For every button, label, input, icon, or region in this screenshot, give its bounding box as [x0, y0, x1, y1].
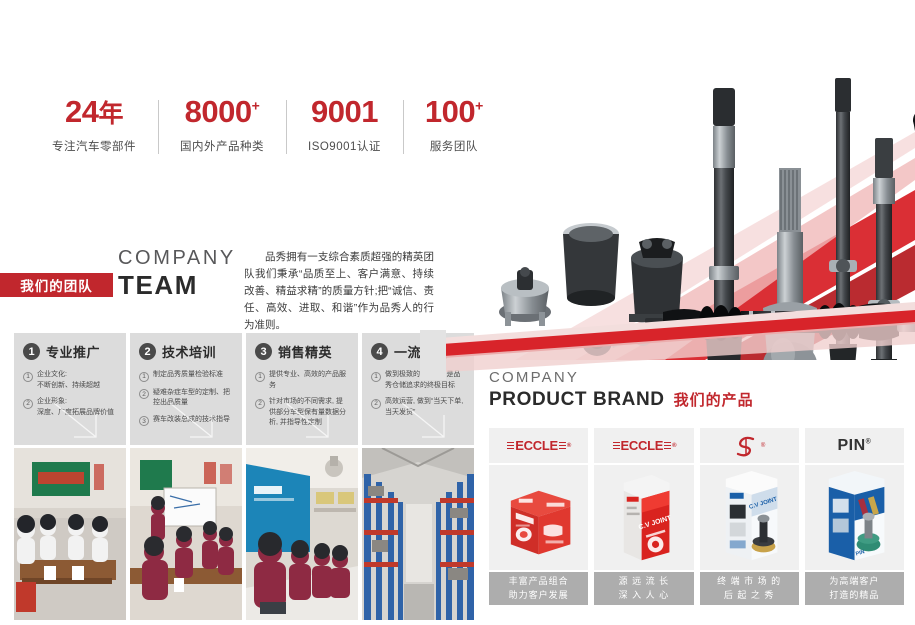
brand-logo-eccle: ECCLE ® — [489, 428, 588, 463]
caption-line-2: 打造的精品 — [829, 589, 879, 602]
brand-caption: 终 端 市 场 的 后 起 之 秀 — [700, 572, 799, 605]
company-stats: 24年 专注汽车零部件 8000+ 国内外产品种类 9001 ISO9001认证… — [52, 96, 505, 154]
bullet-number: 2 — [139, 389, 149, 399]
warehouse-photo — [362, 448, 474, 620]
brand-caption: 源 远 流 长 深 入 人 心 — [594, 572, 693, 605]
team-card: 1 专业推广 1 企业文化:不断创新、持续超越 2 企业形象:深度、广度拓展品牌… — [14, 333, 126, 445]
bullet-number: 1 — [139, 372, 149, 382]
card-header: 2 技术培训 — [139, 342, 233, 361]
product-box-image-blue-white: C.V JOINT — [700, 465, 799, 570]
logo-bars-right — [664, 442, 671, 449]
brand-section-heading: COMPANY PRODUCT BRAND 我们的产品 — [489, 370, 754, 411]
bullet-number: 2 — [255, 399, 265, 409]
team-badge: 我们的团队 — [0, 273, 113, 297]
stat-label: 专注汽车零部件 — [52, 138, 136, 154]
caption-line-1: 终 端 市 场 的 — [717, 575, 781, 588]
product-box-image-red-tall: C.V JOINT — [594, 465, 693, 570]
script-s-logo-icon — [733, 434, 761, 458]
registered-mark: ® — [866, 438, 872, 445]
bullet-number: 2 — [23, 399, 33, 409]
card-number: 3 — [255, 343, 272, 360]
team-card: 2 技术培训 1 制定品秀质量检验标准 2 疑难杂症车型的定制、把控出品质量 3… — [130, 333, 242, 445]
stat-item: 8000+ 国内外产品种类 — [158, 96, 286, 154]
stat-number: 8000+ — [180, 96, 264, 127]
team-heading-company: COMPANY — [118, 248, 236, 269]
team-feature-cards: 1 专业推广 1 企业文化:不断创新、持续超越 2 企业形象:深度、广度拓展品牌… — [14, 333, 474, 445]
stat-label: ISO9001认证 — [308, 138, 381, 154]
stat-number: 9001 — [308, 96, 381, 127]
stat-label: 国内外产品种类 — [180, 138, 264, 154]
card-bullet: 1 提供专业、高效的产品服务 — [255, 370, 349, 391]
card-title: 技术培训 — [162, 342, 216, 361]
card-header: 1 专业推广 — [23, 342, 117, 361]
registered-mark: ® — [672, 443, 676, 449]
product-brand-grid: ECCLE ® — [489, 428, 904, 605]
brand-heading-company: COMPANY — [489, 370, 754, 387]
product-brand-item[interactable]: ® C.V JOINT — [700, 428, 799, 605]
bullet-number: 2 — [371, 399, 381, 409]
registered-mark: ® — [567, 443, 571, 449]
team-description: 品秀拥有一支综合素质超强的精英团队我们秉承“品质至上、客户满意、持续改善、精益求… — [244, 249, 434, 334]
card-bullet: 1 企业文化:不断创新、持续超越 — [23, 370, 117, 391]
brand-logo-text: PIN — [837, 437, 865, 454]
training-room-photo — [130, 448, 242, 620]
brand-logo-text: ECCLE — [515, 438, 558, 453]
bullet-text: 制定品秀质量检验标准 — [153, 370, 223, 382]
caption-line-1: 丰富产品组合 — [509, 575, 569, 588]
logo-bars-left — [507, 442, 514, 449]
bullet-number: 1 — [255, 372, 265, 382]
brand-logo-eccle: ECCLE ® — [594, 428, 693, 463]
stat-item: 100+ 服务团队 — [403, 96, 505, 154]
brand-heading-row: PRODUCT BRAND 我们的产品 — [489, 389, 754, 411]
bullet-text: 提供专业、高效的产品服务 — [269, 370, 349, 391]
team-heading-team: TEAM — [118, 271, 236, 300]
meeting-room-photo — [14, 448, 126, 620]
bullet-number: 3 — [139, 416, 149, 426]
team-photo-strip — [14, 448, 474, 620]
card-number: 1 — [23, 343, 40, 360]
arrow-decoration-icon — [284, 401, 338, 443]
caption-line-2: 后 起 之 秀 — [724, 589, 775, 602]
arrow-decoration-icon — [52, 401, 106, 443]
card-header: 3 销售精英 — [255, 342, 349, 361]
bullet-number: 1 — [23, 372, 33, 382]
product-brand-item[interactable]: ECCLE ® C.V JOINT — [594, 428, 693, 605]
bullet-text: 企业文化:不断创新、持续超越 — [37, 370, 100, 391]
caption-line-1: 源 远 流 长 — [619, 575, 670, 588]
stat-label: 服务团队 — [425, 138, 483, 154]
logo-bars-right — [559, 442, 566, 449]
team-card: 3 销售精英 1 提供专业、高效的产品服务 2 针对市场的不同需求, 提供部分车… — [246, 333, 358, 445]
product-box-image-blue: PIN — [805, 465, 904, 570]
bullet-number: 1 — [371, 372, 381, 382]
card-number: 4 — [371, 343, 388, 360]
brand-logo-text: ECCLE — [621, 438, 664, 453]
brand-caption: 丰富产品组合 助力客户发展 — [489, 572, 588, 605]
stat-item: 24年 专注汽车零部件 — [52, 96, 158, 154]
stat-number: 24年 — [52, 96, 136, 127]
arrow-decoration-icon — [168, 401, 222, 443]
poster-page: 24年 专注汽车零部件 8000+ 国内外产品种类 9001 ISO9001认证… — [0, 0, 915, 625]
product-box-image-red-cube — [489, 465, 588, 570]
brand-heading-cn: 我们的产品 — [674, 389, 754, 410]
product-brand-item[interactable]: ECCLE ® — [489, 428, 588, 605]
card-number: 2 — [139, 343, 156, 360]
team-heading-en: COMPANY TEAM — [118, 248, 236, 300]
caption-line-2: 助力客户发展 — [509, 589, 569, 602]
stat-item: 9001 ISO9001认证 — [286, 96, 403, 154]
brand-logo-script: ® — [700, 428, 799, 463]
card-title: 销售精英 — [278, 342, 332, 361]
registered-mark: ® — [761, 443, 765, 449]
red-ribbon-divider — [420, 300, 915, 380]
card-bullet: 1 制定品秀质量检验标准 — [139, 370, 233, 382]
sales-office-photo — [246, 448, 358, 620]
product-brand-item[interactable]: PIN® PIN — [805, 428, 904, 605]
brand-caption: 为高端客户 打造的精品 — [805, 572, 904, 605]
caption-line-2: 深 入 人 心 — [619, 589, 670, 602]
logo-bars-left — [613, 442, 620, 449]
card-title: 专业推广 — [46, 342, 100, 361]
brand-heading-en: PRODUCT BRAND — [489, 389, 665, 411]
stat-number: 100+ — [425, 96, 483, 127]
brand-logo-pin: PIN® — [805, 428, 904, 463]
caption-line-1: 为高端客户 — [829, 575, 879, 588]
arrow-decoration-icon — [400, 401, 454, 443]
